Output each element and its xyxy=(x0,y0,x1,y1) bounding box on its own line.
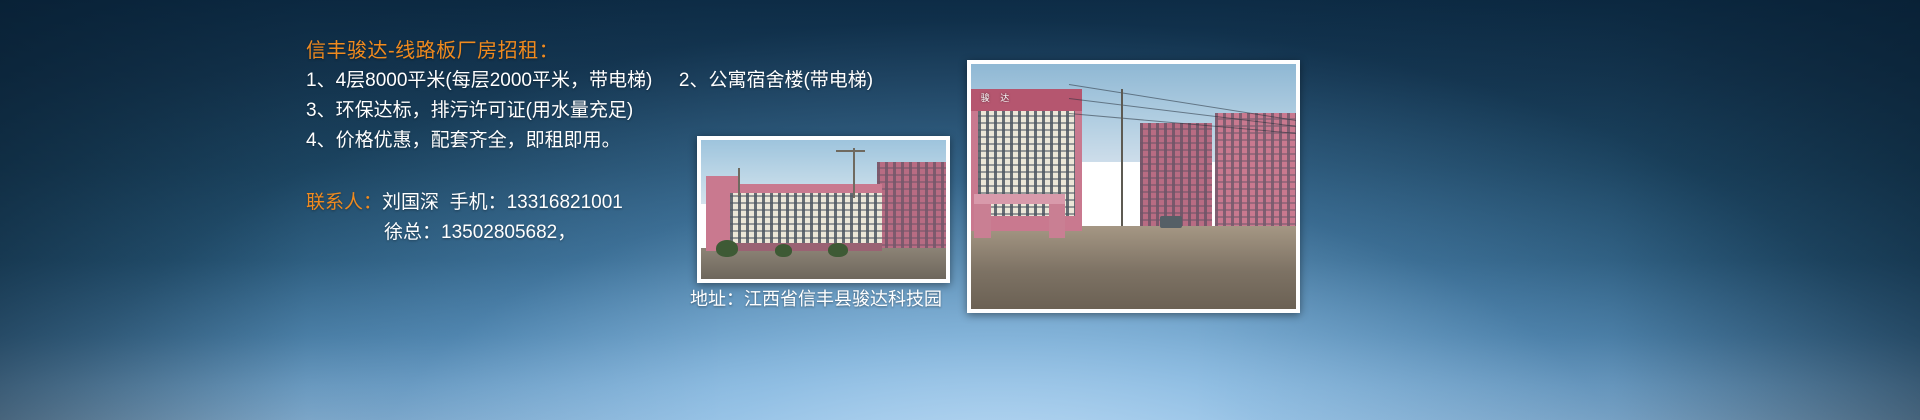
factory-photo-canvas xyxy=(701,140,946,279)
gate-building-middle xyxy=(1140,123,1212,226)
photo-scaffold-pole xyxy=(738,168,740,196)
contact-person-name: 刘国深 xyxy=(382,192,439,213)
mobile-label: 手机： xyxy=(450,192,507,213)
company-sign-text: 骏 达 xyxy=(981,91,1014,104)
factory-building-photo[interactable] xyxy=(697,136,950,283)
photo-windows-main xyxy=(730,190,882,248)
contact-person-label: 联系人： xyxy=(306,192,382,213)
gate-post-left xyxy=(974,199,990,238)
gate-canopy xyxy=(974,194,1065,204)
photo-crane-jib xyxy=(836,150,865,152)
gate-windows-middle xyxy=(1140,123,1212,226)
utility-pole xyxy=(1121,89,1123,226)
address-caption: 地址：江西省信丰县骏达科技园 xyxy=(690,286,942,312)
factory-rental-banner: 信丰骏达-线路板厂房招租： 1、4层8000平米(每层2000平米，带电梯) 2… xyxy=(0,0,1920,420)
gate-post-right xyxy=(1049,199,1065,238)
photo-plinth xyxy=(730,243,882,251)
bullet-item-1: 1、4层8000平米(每层2000平米，带电梯) xyxy=(306,70,652,91)
mobile-number[interactable]: 13316821001 xyxy=(507,192,623,213)
headline-text: 信丰骏达-线路板厂房招租： xyxy=(306,36,926,66)
photo-windows-right xyxy=(877,162,946,248)
company-gate-photo[interactable]: 骏 达 xyxy=(967,60,1300,313)
photo-shrub-3 xyxy=(828,243,848,257)
photo-building-main xyxy=(730,190,882,248)
gate-photo-canvas: 骏 达 xyxy=(971,64,1296,309)
bullet-line-1: 1、4层8000平米(每层2000平米，带电梯) 2、公寓宿舍楼(带电梯) xyxy=(306,66,926,96)
gate-photo-ground xyxy=(971,226,1296,309)
background-vignette xyxy=(0,0,1920,420)
photo-building-right xyxy=(877,162,946,248)
parked-vehicle xyxy=(1160,216,1183,228)
photo-shrub-1 xyxy=(716,240,738,257)
photo-ground xyxy=(701,248,946,279)
photo-crane-mast xyxy=(853,148,855,198)
photo-roof-parapet xyxy=(730,184,882,192)
secondary-contact-text[interactable]: 徐总：13502805682， xyxy=(384,222,576,243)
bullet-item-3: 3、环保达标，排污许可证(用水量充足) xyxy=(306,96,926,126)
bullet-item-2: 2、公寓宿舍楼(带电梯) xyxy=(679,70,873,91)
photo-shrub-2 xyxy=(775,244,792,257)
